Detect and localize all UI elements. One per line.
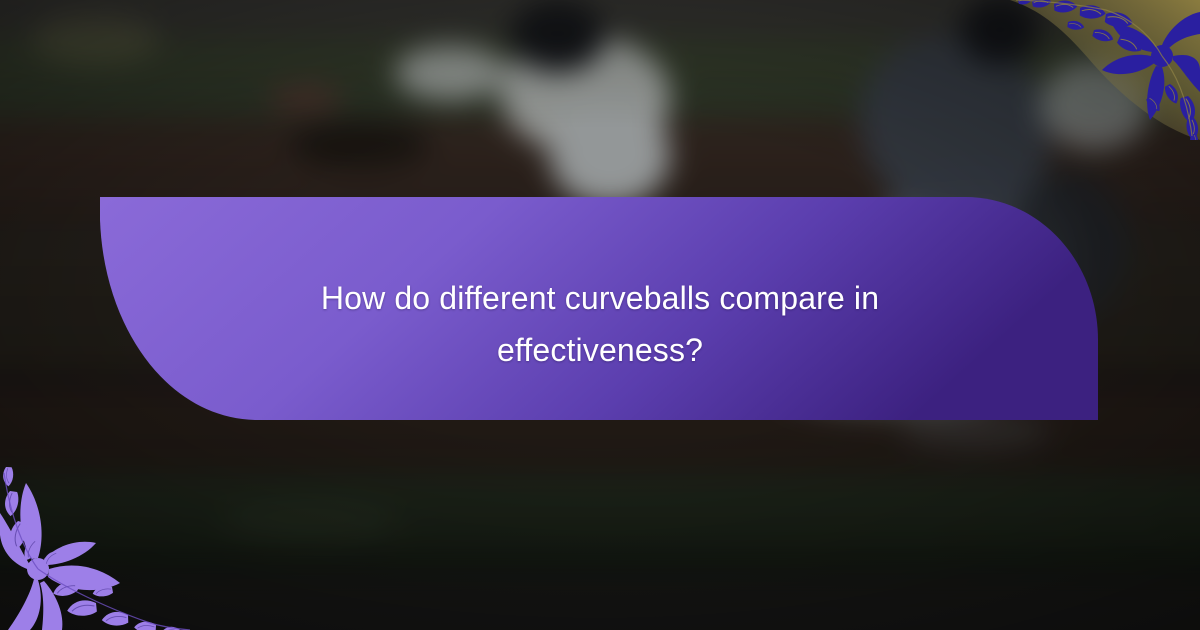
social-card: How do different curveballs compare in e… <box>0 0 1200 630</box>
headline-line-1: How do different curveballs compare in <box>160 272 1040 324</box>
headline: How do different curveballs compare in e… <box>160 272 1040 376</box>
headline-banner: How do different curveballs compare in e… <box>0 0 1200 630</box>
headline-line-2: effectiveness? <box>160 324 1040 376</box>
